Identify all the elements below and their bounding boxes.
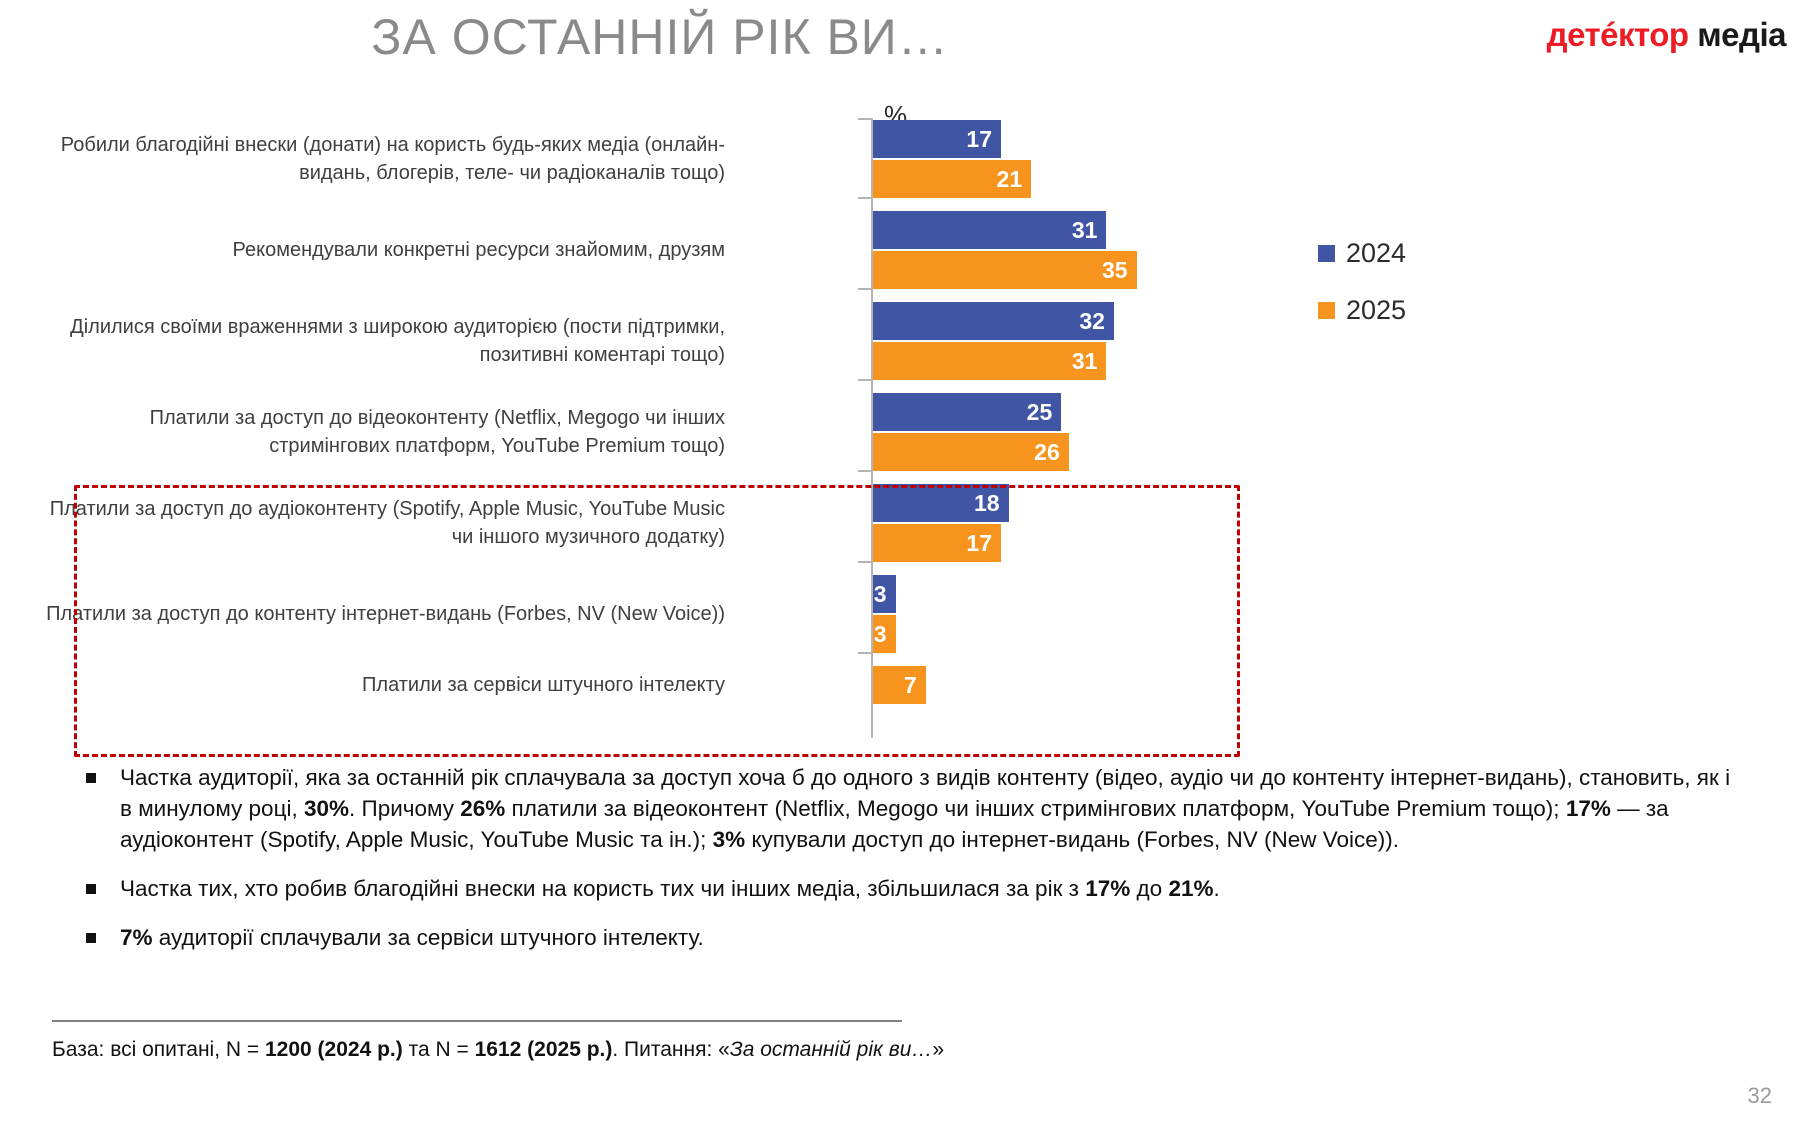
bar-value-label: 31 <box>1072 348 1098 375</box>
bar-value-label: 17 <box>966 126 992 153</box>
bullet-text: . Причому <box>349 796 460 821</box>
category-bar-group: 2526 <box>873 393 1069 471</box>
bullet-text: Частка тих, хто робив благодійні внески … <box>120 876 1085 901</box>
footer-question: За останній рік ви… <box>730 1038 933 1061</box>
bullet-emphasis: 17% <box>1085 876 1130 901</box>
brand-logo: детéктор медіа <box>1547 16 1786 54</box>
category-label: Рекомендували конкретні ресурси знайомим… <box>25 211 725 289</box>
bullet-text: до <box>1130 876 1168 901</box>
footer-text: та N = <box>403 1038 475 1061</box>
bar-value-label: 7 <box>904 672 917 699</box>
bar-chart: % Робили благодійні внески (донати) на к… <box>0 100 1800 740</box>
summary-bullet: Частка аудиторії, яка за останній рік сп… <box>78 762 1738 855</box>
bar-2025[interactable]: 35 <box>873 251 1137 289</box>
category-label: Робили благодійні внески (донати) на кор… <box>25 120 725 198</box>
bar-2024[interactable]: 25 <box>873 393 1061 431</box>
legend-item-2025[interactable]: 2025 <box>1318 295 1406 326</box>
bar-value-label: 17 <box>966 530 992 557</box>
footer-emphasis: 1612 (2025 р.) <box>475 1038 613 1061</box>
bar-value-label: 3 <box>874 621 887 648</box>
footer-divider <box>52 1020 902 1022</box>
summary-bullet: 7% аудиторії сплачували за сервіси штучн… <box>78 922 1738 953</box>
axis-tick-mark <box>858 288 871 290</box>
bullet-text: платили за відеоконтент (Netflix, Megogo… <box>505 796 1566 821</box>
bar-value-label: 31 <box>1072 217 1098 244</box>
legend-label-2024: 2024 <box>1346 238 1406 269</box>
bullet-emphasis: 21% <box>1168 876 1213 901</box>
bar-2024[interactable]: 31 <box>873 211 1106 249</box>
axis-tick-mark <box>858 197 871 199</box>
bullet-emphasis: 3% <box>713 827 746 852</box>
legend-swatch-icon-2024 <box>1318 245 1335 262</box>
bullet-text: купували доступ до інтернет-видань (Forb… <box>745 827 1399 852</box>
summary-bullet-list: Частка аудиторії, яка за останній рік сп… <box>78 762 1738 971</box>
brand-logo-secondary: медіа <box>1697 16 1786 53</box>
bar-value-label: 21 <box>997 166 1023 193</box>
bar-2024[interactable]: 32 <box>873 302 1114 340</box>
footer-text: » <box>932 1038 944 1061</box>
bar-value-label: 26 <box>1034 439 1060 466</box>
highlight-region-box <box>74 485 1240 757</box>
footer-base-note: База: всі опитані, N = 1200 (2024 р.) та… <box>52 1038 944 1062</box>
bar-2024[interactable]: 17 <box>873 120 1001 158</box>
bar-value-label: 3 <box>874 581 887 608</box>
summary-bullet: Частка тих, хто робив благодійні внески … <box>78 873 1738 904</box>
category-label: Ділилися своїми враженнями з широкою ауд… <box>25 302 725 380</box>
category-bar-group: 3135 <box>873 211 1137 289</box>
footer-text: База: всі опитані, N = <box>52 1038 265 1061</box>
legend-item-2024[interactable]: 2024 <box>1318 238 1406 269</box>
bullet-emphasis: 7% <box>120 925 153 950</box>
footer-emphasis: 1200 (2024 р.) <box>265 1038 403 1061</box>
axis-tick-mark <box>858 470 871 472</box>
legend-label-2025: 2025 <box>1346 295 1406 326</box>
page-title: ЗА ОСТАННІЙ РІК ВИ… <box>0 8 1320 66</box>
bar-2025[interactable]: 26 <box>873 433 1069 471</box>
bullet-emphasis: 17% <box>1566 796 1611 821</box>
bar-value-label: 25 <box>1027 399 1053 426</box>
axis-tick-mark <box>858 379 871 381</box>
category-bar-group: 1721 <box>873 120 1031 198</box>
bar-value-label: 32 <box>1079 308 1105 335</box>
bullet-text: аудиторії сплачували за сервіси штучного… <box>153 925 704 950</box>
bullet-text: . <box>1213 876 1219 901</box>
bar-2025[interactable]: 21 <box>873 160 1031 198</box>
bar-value-label: 18 <box>974 490 1000 517</box>
chart-legend: 2024 2025 <box>1318 238 1406 352</box>
bar-value-label: 35 <box>1102 257 1128 284</box>
bullet-emphasis: 26% <box>460 796 505 821</box>
footer-text: . Питання: « <box>612 1038 729 1061</box>
brand-logo-primary: детéктор <box>1547 16 1689 53</box>
page-number: 32 <box>1748 1083 1772 1109</box>
category-label: Платили за доступ до відеоконтенту (Netf… <box>25 393 725 471</box>
category-bar-group: 3231 <box>873 302 1114 380</box>
axis-tick-mark <box>858 118 871 120</box>
bar-2025[interactable]: 31 <box>873 342 1106 380</box>
bullet-emphasis: 30% <box>304 796 349 821</box>
legend-swatch-icon-2025 <box>1318 302 1335 319</box>
